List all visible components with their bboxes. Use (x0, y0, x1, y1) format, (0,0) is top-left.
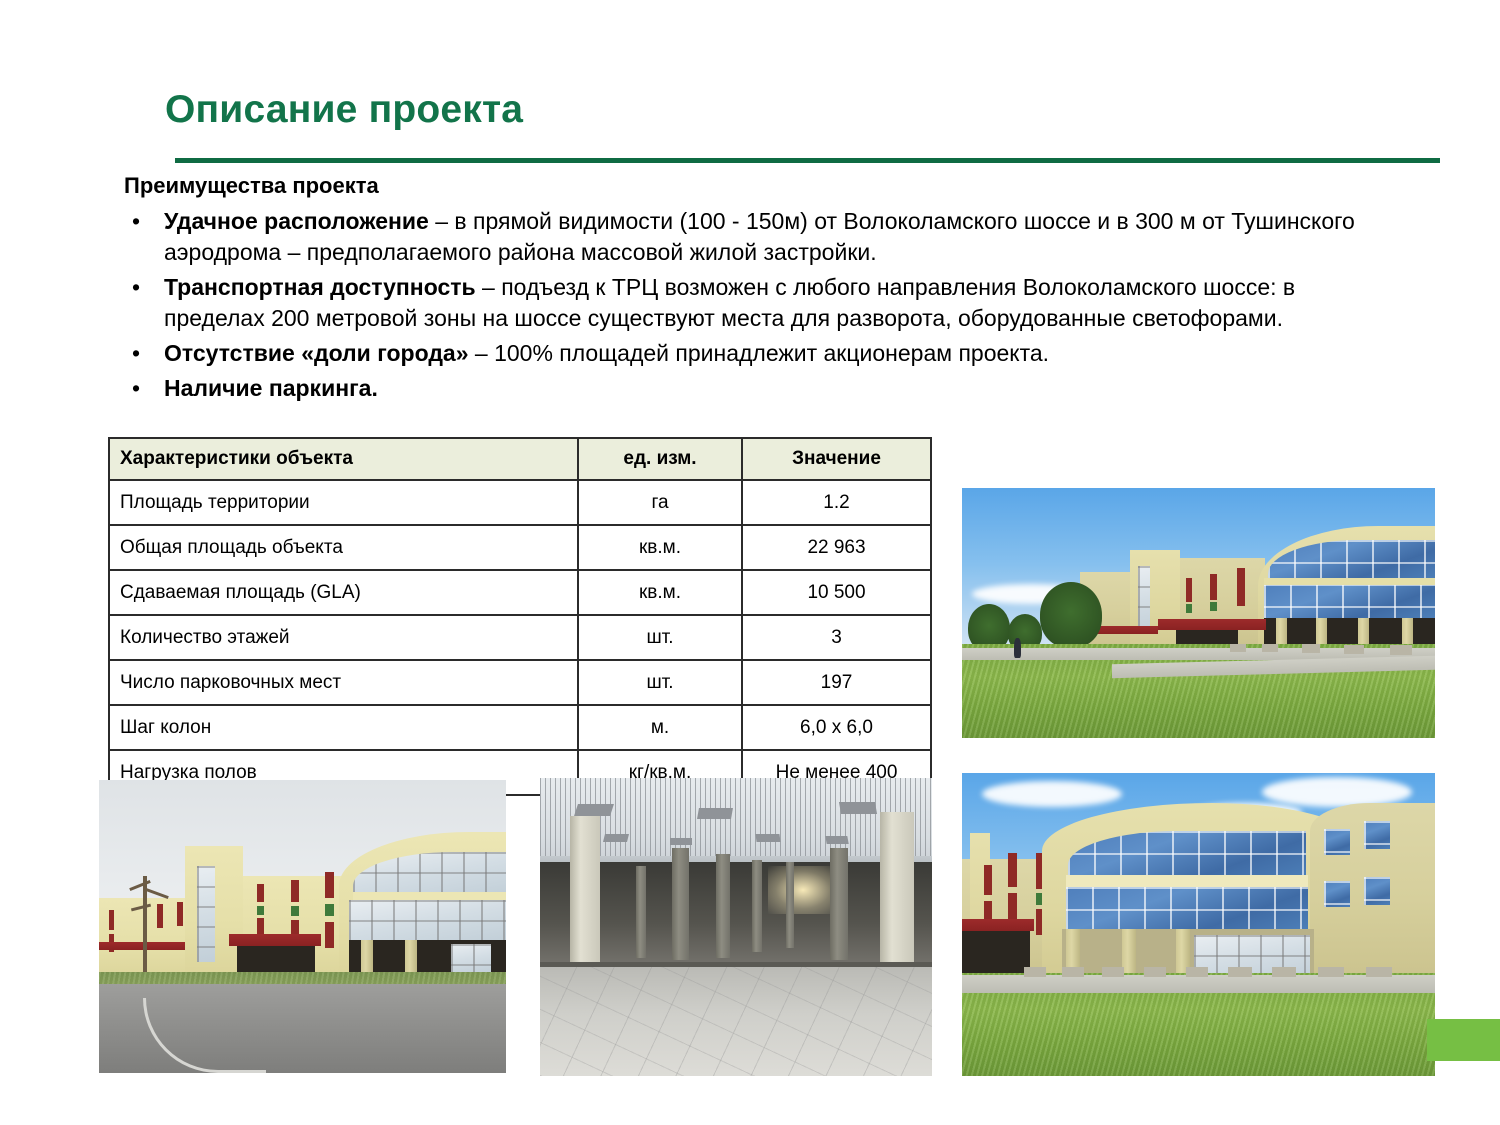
list-item: • Транспортная доступность – подъезд к Т… (124, 272, 1379, 334)
advantages-heading: Преимущества проекта (124, 173, 379, 199)
table-row: Сдаваемая площадь (GLA) кв.м. 10 500 (109, 570, 931, 615)
column (716, 854, 730, 958)
cell-value: 6,0 х 6,0 (742, 705, 931, 750)
table-row: Число парковочных мест шт. 197 (109, 660, 931, 705)
facade-accent-stripe (1237, 568, 1245, 606)
curtain-wall-lower (1066, 887, 1308, 931)
cell-value: 3 (742, 615, 931, 660)
facade-accent-stripe (109, 910, 114, 930)
column (830, 848, 848, 960)
column (1122, 929, 1136, 979)
facade-accent-stripe (1008, 853, 1017, 887)
floor-transition-line (540, 962, 932, 967)
bench (1390, 645, 1412, 655)
cell-value: 1.2 (742, 480, 931, 525)
advantages-bullet-list: • Удачное расположение – в прямой видимо… (124, 206, 1379, 408)
column (405, 940, 417, 974)
bullet-text: Наличие паркинга. (164, 373, 1379, 404)
cell-characteristic: Сдаваемая площадь (GLA) (109, 570, 578, 615)
facade-accent-stripe (984, 865, 992, 895)
facade-accent-stripe (291, 880, 299, 902)
bullet-lead: Удачное расположение (164, 208, 429, 234)
facade-accent-stripe (257, 906, 264, 915)
column-header-unit: ед. изм. (578, 438, 742, 480)
ceiling-light (603, 834, 629, 842)
facade-accent-stripe (325, 872, 334, 898)
bullet-text: Транспортная доступность – подъезд к ТРЦ… (164, 272, 1379, 334)
ceiling-light (697, 808, 733, 819)
curtain-wall-lower (1264, 584, 1435, 618)
column (570, 816, 600, 964)
bench (1262, 644, 1278, 652)
tree (1040, 582, 1102, 648)
photo-canvas (962, 488, 1435, 738)
photo-building-front-facade (962, 773, 1435, 1076)
punched-window (1324, 829, 1350, 855)
facade-accent-stripe (177, 902, 183, 926)
spandrel-band (1264, 578, 1435, 585)
bench (1230, 644, 1246, 652)
photo-canvas (540, 778, 932, 1076)
tower-glazing (197, 866, 215, 962)
bullet-text: Отсутствие «доли города» – 100% площадей… (164, 338, 1379, 369)
ceiling-light (670, 838, 692, 845)
cell-characteristic: Количество этажей (109, 615, 578, 660)
bench (1102, 967, 1124, 977)
column (1402, 618, 1413, 646)
cell-characteristic: Площадь территории (109, 480, 578, 525)
bench (1186, 967, 1208, 977)
bench (1366, 967, 1392, 977)
entrance-glazing (451, 944, 491, 972)
bench (1272, 967, 1296, 977)
column (636, 866, 646, 958)
corner-accent-block (1427, 1019, 1500, 1061)
person-figure (1014, 638, 1021, 658)
bullet-lead: Отсутствие «доли города» (164, 340, 469, 366)
column (361, 940, 373, 974)
column-header-value: Значение (742, 438, 931, 480)
bullet-marker-icon: • (124, 338, 164, 369)
tiled-floor (540, 964, 932, 1076)
bullet-marker-icon: • (124, 206, 164, 237)
entrance-canopy (962, 919, 1034, 931)
facade-accent-stripe (257, 884, 264, 902)
cell-unit: шт. (578, 615, 742, 660)
ceiling-light (825, 836, 848, 844)
page-title: Описание проекта (165, 88, 523, 132)
list-item: • Удачное расположение – в прямой видимо… (124, 206, 1379, 268)
photo-canvas (99, 780, 506, 1073)
facade-accent-stripe (157, 904, 163, 928)
ceiling-light (839, 802, 877, 814)
bullet-lead: Транспортная доступность (164, 274, 476, 300)
cell-unit: га (578, 480, 742, 525)
ceiling-light (755, 834, 780, 842)
cell-value: 10 500 (742, 570, 931, 615)
facade-accent-stripe (1186, 578, 1192, 602)
curtain-wall-lower (349, 900, 506, 940)
bench (1062, 967, 1084, 977)
bench (1144, 967, 1166, 977)
photo-building-exterior-sunny (962, 488, 1435, 738)
cell-unit: кв.м. (578, 570, 742, 615)
photo-interior-retail-hall (540, 778, 932, 1076)
table-row: Общая площадь объекта кв.м. 22 963 (109, 525, 931, 570)
column (1316, 618, 1327, 646)
bullet-text: Удачное расположение – в прямой видимост… (164, 206, 1379, 268)
facade-accent-stripe (291, 906, 299, 916)
list-item: • Отсутствие «доли города» – 100% площад… (124, 338, 1379, 369)
photo-canvas (962, 773, 1435, 1076)
far-light-glow (768, 866, 838, 914)
facade-accent-stripe (1210, 602, 1217, 611)
bullet-rest: – 100% площадей принадлежит акционерам п… (469, 340, 1050, 366)
bench (1024, 967, 1046, 977)
column (786, 862, 794, 948)
bench (1344, 645, 1364, 654)
tower-glazing (1138, 566, 1150, 634)
facade-accent-stripe (325, 904, 334, 916)
facade-accent-stripe (1186, 604, 1192, 613)
list-item: • Наличие паркинга. (124, 373, 1379, 404)
cell-characteristic: Число парковочных мест (109, 660, 578, 705)
punched-window (1364, 877, 1390, 905)
bullet-lead: Наличие паркинга. (164, 375, 378, 401)
cell-characteristic: Шаг колон (109, 705, 578, 750)
punched-window (1324, 881, 1350, 907)
column (1276, 618, 1287, 646)
footpath (962, 975, 1435, 993)
column (752, 860, 762, 952)
bullet-marker-icon: • (124, 373, 164, 404)
cell-characteristic: Общая площадь объекта (109, 525, 578, 570)
table-header-row: Характеристики объекта ед. изм. Значение (109, 438, 931, 480)
facade-accent-stripe (325, 922, 334, 948)
facade-accent-stripe (1210, 574, 1217, 600)
bench (1318, 967, 1344, 977)
column-header-characteristic: Характеристики объекта (109, 438, 578, 480)
cell-value: 197 (742, 660, 931, 705)
photo-building-exterior-overcast (99, 780, 506, 1073)
column (1358, 618, 1369, 646)
bench (1228, 967, 1252, 977)
bench (1302, 644, 1320, 653)
facade-accent-stripe (1008, 893, 1017, 921)
bullet-marker-icon: • (124, 272, 164, 303)
table-row: Площадь территории га 1.2 (109, 480, 931, 525)
object-specification-table: Характеристики объекта ед. изм. Значение… (108, 437, 932, 796)
ceiling-light (574, 804, 614, 816)
entrance-doorway (962, 931, 1030, 979)
column (672, 848, 689, 960)
title-underline-rule (175, 158, 1440, 163)
cell-value: 22 963 (742, 525, 931, 570)
cell-unit: кв.м. (578, 525, 742, 570)
entrance-canopy (1158, 619, 1266, 630)
cell-unit: м. (578, 705, 742, 750)
table-row: Шаг колон м. 6,0 х 6,0 (109, 705, 931, 750)
cloud-shape (982, 781, 1122, 807)
entrance-canopy (229, 934, 321, 946)
cell-unit: шт. (578, 660, 742, 705)
punched-window (1364, 821, 1390, 849)
table-row: Количество этажей шт. 3 (109, 615, 931, 660)
column (880, 812, 914, 962)
